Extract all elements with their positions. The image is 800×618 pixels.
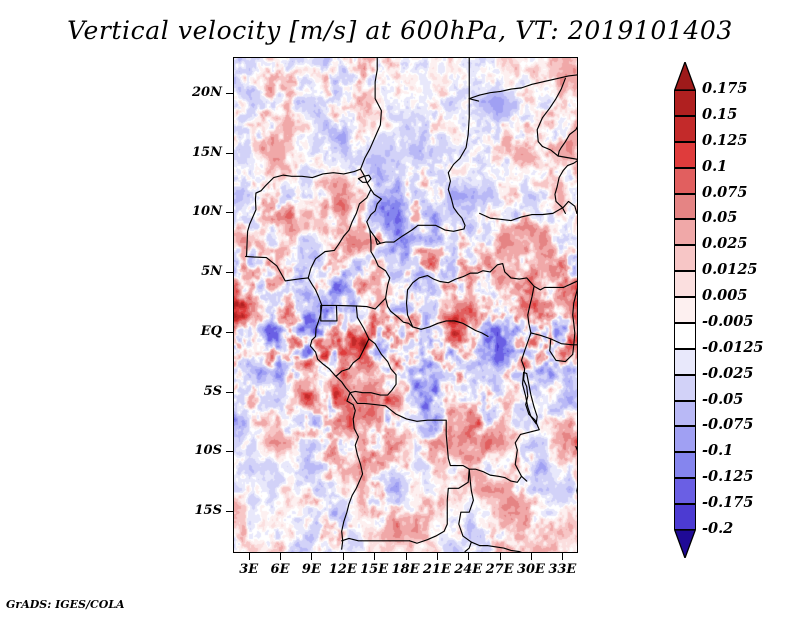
country-border-path <box>370 230 413 327</box>
colorbar-band <box>674 142 696 168</box>
x-axis-label: 33E <box>537 562 587 577</box>
colorbar-band <box>674 401 696 427</box>
x-axis-tick <box>311 553 312 560</box>
y-axis-label: 10S <box>162 443 222 458</box>
colorbar-tick-label: -0.0125 <box>702 341 764 356</box>
x-axis-tick <box>468 553 469 560</box>
country-border-path <box>465 542 471 552</box>
country-border-path <box>410 469 470 543</box>
colorbar-band <box>674 219 696 245</box>
country-border-path <box>407 264 579 327</box>
country-border-path <box>469 99 478 101</box>
y-axis-tick <box>226 153 233 154</box>
colorbar-tick-label: 0.175 <box>702 82 747 97</box>
country-border-path <box>308 169 371 278</box>
x-axis-tick <box>437 553 438 560</box>
colorbar-tick-label: 0.15 <box>702 108 737 123</box>
country-border-path <box>350 393 469 469</box>
colorbar-band <box>674 245 696 271</box>
y-axis-tick <box>226 272 233 273</box>
colorbar-arrow-max <box>674 62 696 90</box>
colorbar-band <box>674 504 696 530</box>
country-border-path <box>573 280 578 345</box>
country-border-path <box>413 321 488 337</box>
country-border-path <box>350 339 396 395</box>
y-axis-label: 15S <box>162 503 222 518</box>
footer-credit: GrADS: IGES/COLA <box>6 598 125 611</box>
colorbar-tick-label: 0.025 <box>702 237 747 252</box>
country-border-path <box>358 175 371 182</box>
colorbar-band <box>674 168 696 194</box>
country-border-path <box>480 201 577 220</box>
country-border-path <box>335 306 368 376</box>
colorbar-tick-label: 0.125 <box>702 134 747 149</box>
colorbar-tick-label: -0.005 <box>702 315 753 330</box>
colorbar-tick-label: -0.05 <box>702 393 743 408</box>
colorbar: 0.1750.150.1250.10.0750.050.0250.01250.0… <box>673 60 793 562</box>
x-axis-tick <box>249 553 250 560</box>
y-axis-tick <box>226 332 233 333</box>
country-border-path <box>550 339 574 362</box>
country-border-path <box>246 256 363 549</box>
colorbar-tick-label: 0.05 <box>702 211 737 226</box>
colorbar-band <box>674 452 696 478</box>
country-border-path <box>576 446 578 503</box>
colorbar-band <box>674 478 696 504</box>
x-axis-tick <box>343 553 344 560</box>
colorbar-band <box>674 116 696 142</box>
colorbar-tick-label: -0.025 <box>702 367 753 382</box>
y-axis-label: 5N <box>162 264 222 279</box>
colorbar-tick-label: -0.175 <box>702 496 753 511</box>
country-border-path <box>377 58 469 99</box>
y-axis-tick <box>226 93 233 94</box>
country-border-path <box>342 538 410 540</box>
colorbar-band <box>674 297 696 323</box>
y-axis-tick <box>226 392 233 393</box>
colorbar-tick-label: -0.2 <box>702 522 733 537</box>
colorbar-band <box>674 375 696 401</box>
country-border-path <box>337 298 386 309</box>
country-borders-overlay <box>234 58 578 553</box>
colorbar-band <box>674 426 696 452</box>
colorbar-band <box>674 271 696 297</box>
country-border-path <box>515 286 539 481</box>
country-border-path <box>448 99 469 229</box>
x-axis-tick <box>531 553 532 560</box>
colorbar-band <box>674 194 696 220</box>
y-axis-tick <box>226 212 233 213</box>
country-border-path <box>523 372 538 423</box>
x-axis-tick <box>280 553 281 560</box>
y-axis-label: 10N <box>162 204 222 219</box>
colorbar-band <box>674 90 696 116</box>
y-axis-tick <box>226 511 233 512</box>
colorbar-tick-label: 0.1 <box>702 160 727 175</box>
grads-plot-page: Vertical velocity [m/s] at 600hPa, VT: 2… <box>0 0 800 618</box>
colorbar-arrow-min <box>674 530 696 558</box>
x-axis-tick <box>374 553 375 560</box>
colorbar-tick-label: -0.075 <box>702 418 753 433</box>
country-border-path <box>247 193 256 256</box>
x-axis-tick <box>562 553 563 560</box>
colorbar-band <box>674 323 696 349</box>
y-axis-label: 15N <box>162 145 222 160</box>
country-border-path <box>361 58 382 169</box>
x-axis-tick <box>406 553 407 560</box>
colorbar-tick-label: -0.125 <box>702 470 753 485</box>
y-axis-label: 5S <box>162 384 222 399</box>
country-border-path <box>469 469 521 482</box>
colorbar-tick-label: -0.1 <box>702 444 733 459</box>
country-border-path <box>321 305 337 321</box>
y-axis-label: EQ <box>162 324 222 339</box>
country-border-path <box>256 169 361 193</box>
map-plot-area <box>233 57 578 553</box>
colorbar-tick-label: 0.075 <box>702 186 747 201</box>
country-border-path <box>537 78 565 156</box>
x-axis-tick <box>500 553 501 560</box>
y-axis-label: 20N <box>162 85 222 100</box>
country-border-path <box>558 124 578 160</box>
page-title: Vertical velocity [m/s] at 600hPa, VT: 2… <box>0 16 800 45</box>
country-border-path <box>531 333 578 345</box>
colorbar-tick-label: 0.0125 <box>702 263 758 278</box>
y-axis-tick <box>226 451 233 452</box>
country-border-path <box>367 189 464 243</box>
colorbar-band <box>674 349 696 375</box>
colorbar-tick-label: 0.005 <box>702 289 747 304</box>
